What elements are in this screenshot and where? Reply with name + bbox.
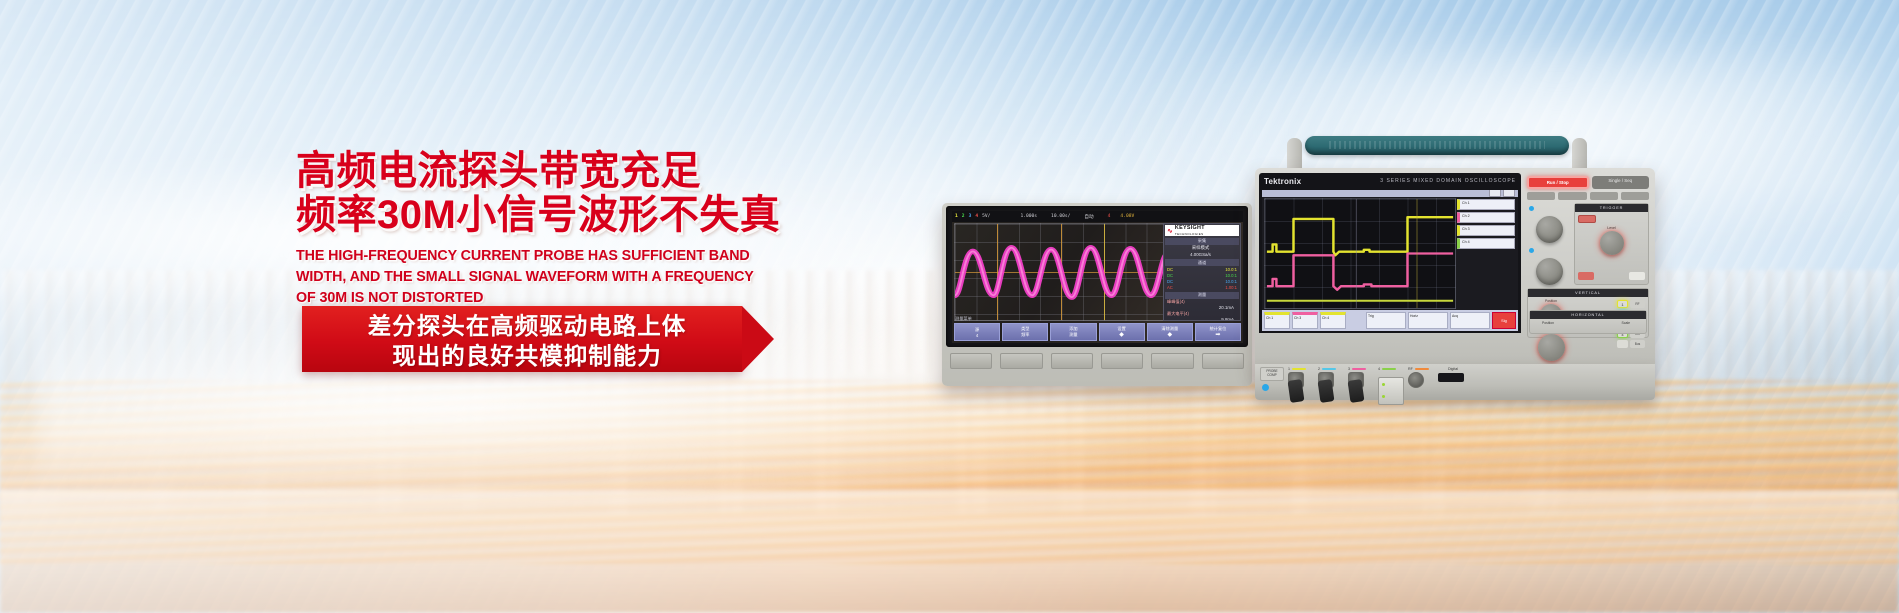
scope-b-brandbar: Tektronix 3 SERIES MIXED DOMAIN OSCILLOS… [1259, 173, 1521, 189]
keysight-logo: ∿ KEYSIGHT TECHNOLOGIES [1165, 225, 1239, 236]
vertical-position-label: Position [1534, 299, 1568, 303]
scope-a-meas-2-value: 9.8mA [1167, 317, 1237, 322]
scope-a-front-button[interactable] [1202, 353, 1244, 369]
scope-a-side-panel: ∿ KEYSIGHT TECHNOLOGIES 采集 采样模式 4.00GSa/… [1163, 223, 1241, 321]
bnc-port-rf[interactable]: RF [1408, 367, 1434, 388]
scope-b-menu-ch3[interactable]: Ch 3 [1292, 312, 1318, 329]
trigger-level-label: Level [1575, 226, 1648, 230]
ground-icon [1262, 384, 1269, 391]
scope-a-trigger-mode: 自动 [1084, 214, 1093, 220]
scope-b-carry-handle[interactable] [1287, 136, 1587, 172]
scope-b-waveform-grid [1264, 198, 1456, 309]
scope-b-aux-button[interactable] [1621, 192, 1649, 200]
scope-a-softkey-2-line2: 频率 [1021, 332, 1029, 338]
channel-1-button[interactable]: 1 [1617, 300, 1628, 308]
scope-b-menu-acq[interactable]: Acq [1450, 312, 1490, 329]
trigger-force-button[interactable] [1578, 272, 1594, 280]
horizontal-panel: HORIZONTAL Position Scale [1529, 310, 1647, 334]
scope-a-front-button[interactable] [1051, 353, 1093, 369]
bnc-4-number: 4 [1378, 367, 1380, 371]
scope-a-vscale: 5V/ [982, 214, 990, 219]
bnc-2-cable [1318, 379, 1335, 403]
scope-b-menu-horiz[interactable]: Horiz [1408, 312, 1448, 329]
scope-a-acquire-title: 采集 [1165, 238, 1239, 245]
scope-a-ch3-coupling: DC [1167, 279, 1173, 284]
scope-b-screen-button[interactable] [1503, 190, 1515, 197]
scope-b-body: Tektronix 3 SERIES MIXED DOMAIN OSCILLOS… [1255, 168, 1655, 368]
scope-b-aux-button[interactable] [1527, 192, 1555, 200]
headline-line-2: 频率30M小信号波形不失真 [296, 194, 766, 236]
scope-a-sine-trace [955, 224, 1166, 320]
rf-connector[interactable] [1408, 372, 1424, 388]
ribbon-callout: 差分探头在高频驱动电路上体 现出的良好共模抑制能力 [302, 306, 742, 372]
bnc-4-label: 4 [1378, 367, 1404, 371]
scope-b-screen-button[interactable] [1489, 190, 1501, 197]
tektronix-brand-name: Tektronix [1264, 177, 1301, 186]
scope-a-ch2-value: 10.0:1 [1225, 273, 1237, 278]
headline-line-1: 高频电流探头带宽充足 [296, 150, 766, 192]
bnc-rf-color-bar-icon [1415, 368, 1429, 371]
scope-b-top-strip [1262, 190, 1518, 197]
scope-b-trigger-area: TRIGGER Level [1525, 203, 1651, 285]
headline-block: 高频电流探头带宽充足 频率30M小信号波形不失真 THE HIGH-FREQUE… [296, 150, 766, 309]
promo-banner: 高频电流探头带宽充足 频率30M小信号波形不失真 THE HIGH-FREQUE… [0, 0, 1899, 613]
bnc-1-number: 1 [1288, 367, 1290, 371]
scope-a-trigger-channel: 4 [1108, 214, 1111, 219]
bnc-port-3[interactable]: 3 [1348, 367, 1374, 388]
scope-b-menu-ch4[interactable]: Ch 4 [1320, 312, 1346, 329]
scope-a-ch1-indicator: 1 [955, 214, 958, 219]
subcopy-block: THE HIGH-FREQUENCY CURRENT PROBE HAS SUF… [296, 246, 752, 309]
scope-a-trigger-level: 4.08V [1120, 214, 1134, 219]
digital-connector[interactable] [1438, 373, 1464, 382]
bnc-4-color-bar-icon [1382, 368, 1396, 371]
probe-led-1-icon [1382, 383, 1385, 386]
vertical-panel-title: VERTICAL [1528, 289, 1648, 297]
scope-a-ch2-indicator: 2 [962, 214, 965, 219]
scope-a-ch2-coupling: DC [1167, 273, 1173, 278]
scope-a-bezel: 1 2 3 4 5V/ 1.000s 10.00s/ 自动 4 4.08V [946, 206, 1248, 347]
scope-a-channel-row: AC 1.00:1 [1165, 284, 1239, 290]
scope-a-softkey-1-line2: 4 [976, 333, 978, 338]
tektronix-model-label: 3 SERIES MIXED DOMAIN OSCILLOSCOPE [1380, 178, 1516, 184]
scope-a-softkey-4[interactable]: 设置 ◆ [1099, 323, 1145, 341]
scope-b-screen-buttons [1489, 190, 1515, 197]
subcopy-line-1: THE HIGH-FREQUENCY CURRENT PROBE HAS SUF… [296, 246, 752, 267]
bnc-2-number: 2 [1318, 367, 1320, 371]
scope-b-aux-button-row [1525, 192, 1651, 200]
scope-a-ch1-coupling: DC [1167, 267, 1173, 272]
ribbon-line-2: 现出的良好共模抑制能力 [322, 342, 732, 370]
scope-a-ch4-value: 1.00:1 [1225, 285, 1237, 290]
oscilloscope-keysight: 1 2 3 4 5V/ 1.000s 10.00s/ 自动 4 4.08V [942, 203, 1252, 386]
scope-a-front-button[interactable] [950, 353, 992, 369]
scope-a-softkey-2[interactable]: 类型 频率 [1002, 323, 1048, 341]
scope-a-waveform-grid [954, 223, 1167, 321]
knob-a-indicator-icon [1529, 206, 1534, 211]
scope-a-softkey-4-arrow-icon: ◆ [1119, 332, 1124, 338]
scope-b-traces [1265, 199, 1455, 308]
scope-b-menu-ch1[interactable]: Ch 1 [1264, 312, 1290, 329]
horizontal-scale-label: Scale [1622, 321, 1630, 325]
bus-button[interactable]: Bus [1630, 340, 1645, 348]
bnc-2-label: 2 [1318, 367, 1344, 371]
scope-a-topbar: 1 2 3 4 5V/ 1.000s 10.00s/ 自动 4 4.08V [952, 211, 1243, 222]
scope-b-badge-ch3[interactable]: Ch 3 [1457, 225, 1515, 236]
trigger-level-knob[interactable] [1600, 231, 1624, 255]
trigger-slope-button[interactable] [1629, 272, 1645, 280]
probe-comp-label: PROBE COMP [1260, 367, 1284, 381]
scope-a-measure-menu-label: 测量菜单 [955, 316, 972, 322]
scope-a-softkey-6[interactable]: 统计复位 ➡ [1195, 323, 1241, 341]
scope-b-control-panel: Run / Stop Single / Seq [1525, 174, 1651, 338]
subcopy-line-2: WIDTH, AND THE SMALL SIGNAL WAVEFORM WIT… [296, 267, 752, 288]
scope-a-softkey-3[interactable]: 添加 测量 [1050, 323, 1096, 341]
scope-a-softkey-5-arrow-icon: ◆ [1167, 332, 1172, 338]
bnc-2-color-bar-icon [1322, 368, 1336, 371]
scope-b-badge-ch4[interactable]: Ch 4 [1457, 238, 1515, 249]
scope-a-ch3-indicator: 3 [969, 214, 972, 219]
bnc-3-color-bar-icon [1352, 368, 1366, 371]
bnc-port-1[interactable]: 1 [1288, 367, 1314, 388]
scope-a-ch3-value: 10.0:1 [1225, 279, 1237, 284]
bnc-rf-number: RF [1408, 367, 1413, 371]
scope-a-front-button[interactable] [1151, 353, 1193, 369]
scope-a-acquire-rate: 4.00GSa/s [1165, 252, 1239, 258]
bnc-port-2[interactable]: 2 [1318, 367, 1344, 388]
scope-a-softkey-bar: 源 4 类型 频率 添加 测量 设置 ◆ [954, 323, 1241, 341]
scope-b-menu-trig[interactable]: Trig [1366, 312, 1406, 329]
scope-a-softkey-3-line2: 测量 [1069, 332, 1077, 338]
horizontal-panel-title: HORIZONTAL [1530, 311, 1646, 319]
probe-led-2-icon [1382, 395, 1385, 398]
scope-a-front-buttons [950, 353, 1244, 369]
vertical-row-1: 1 RF [1617, 300, 1645, 308]
single-seq-button[interactable]: Single / Seq [1592, 176, 1650, 189]
ribbon-line-1: 差分探头在高频驱动电路上体 [322, 312, 732, 340]
scope-a-softkey-1[interactable]: 源 4 [954, 323, 1000, 341]
scope-a-channels-title: 通道 [1165, 259, 1239, 266]
scope-b-screen: Tektronix 3 SERIES MIXED DOMAIN OSCILLOS… [1259, 173, 1521, 333]
scope-b-bottom-menu: Ch 1 Ch 3 Ch 4 Trig Horiz Acq Sig [1262, 310, 1518, 331]
keysight-tagline: TECHNOLOGIES [1175, 232, 1204, 236]
vertical-scale-knob[interactable] [1538, 334, 1565, 361]
scope-a-measure-title: 测量 [1165, 292, 1239, 299]
scope-a-ch4-indicator: 4 [975, 214, 978, 219]
bnc-port-4[interactable]: 4 [1378, 367, 1404, 405]
bnc-1-label: 1 [1288, 367, 1314, 371]
multipurpose-knob-a[interactable] [1536, 216, 1563, 243]
bnc-1-color-bar-icon [1292, 368, 1306, 371]
scope-b-menu-run-badge[interactable]: Sig [1492, 312, 1516, 329]
scope-b-run-row: Run / Stop Single / Seq [1525, 174, 1651, 189]
attached-probe-module [1378, 377, 1404, 405]
scope-b-channel-badges: Ch 1 Ch 2 Ch 3 Ch 4 [1457, 199, 1515, 251]
scope-b-badge-ch1[interactable]: Ch 1 [1457, 199, 1515, 210]
rf-button[interactable]: RF [1630, 300, 1645, 308]
oscilloscope-tektronix: Tektronix 3 SERIES MIXED DOMAIN OSCILLOS… [1255, 168, 1655, 398]
scope-a-acquire-mode: 采样模式 [1165, 245, 1239, 252]
scope-b-multipurpose-knobs [1527, 203, 1571, 285]
scope-b-lcd: Ch 1 Ch 2 Ch 3 Ch 4 Ch 1 Ch 3 Ch 4 Trig … [1262, 190, 1518, 331]
bnc-3-label: 3 [1348, 367, 1374, 371]
ribbon-text: 差分探头在高频驱动电路上体 现出的良好共模抑制能力 [322, 312, 732, 370]
trigger-panel: TRIGGER Level [1574, 203, 1649, 285]
keysight-brand-name: KEYSIGHT [1175, 225, 1205, 231]
trigger-mode-button[interactable] [1578, 215, 1596, 223]
scope-b-badge-ch2[interactable]: Ch 2 [1457, 212, 1515, 223]
spare-button[interactable] [1617, 340, 1628, 348]
scope-a-softkey-6-arrow-icon: ➡ [1215, 332, 1220, 338]
scope-a-time-scale: 10.00s/ [1051, 214, 1070, 219]
scope-b-aux-button[interactable] [1558, 192, 1586, 200]
scope-a-front-button[interactable] [1101, 353, 1143, 369]
scope-a-ch1-value: 10.0:1 [1225, 267, 1237, 272]
run-stop-button[interactable]: Run / Stop [1527, 176, 1589, 189]
scope-a-softkey-5[interactable]: 清除测量 ◆ [1147, 323, 1193, 341]
bnc-1-cable [1288, 379, 1305, 403]
scope-b-handle-grip [1305, 136, 1569, 155]
scope-b-aux-button[interactable] [1590, 192, 1618, 200]
digital-port-label: Digital [1438, 367, 1468, 371]
bnc-3-number: 3 [1348, 367, 1350, 371]
scope-a-front-button[interactable] [1000, 353, 1042, 369]
horizontal-position-label: Position [1542, 321, 1554, 325]
scope-a-ch4-coupling: AC [1167, 285, 1173, 290]
bnc-rf-label: RF [1408, 367, 1434, 371]
scope-a-screen: 1 2 3 4 5V/ 1.000s 10.00s/ 自动 4 4.08V [952, 211, 1243, 343]
vertical-row-5: Bus [1617, 340, 1645, 348]
scope-a-time-delay: 1.000s [1020, 214, 1037, 219]
bnc-3-cable [1348, 379, 1365, 403]
scope-b-front-panel: PROBE COMP 1 2 [1255, 364, 1655, 400]
multipurpose-knob-b[interactable] [1536, 258, 1563, 285]
knob-b-indicator-icon [1529, 248, 1534, 253]
trigger-panel-title: TRIGGER [1575, 204, 1648, 212]
keysight-wave-icon: ∿ [1167, 227, 1173, 235]
